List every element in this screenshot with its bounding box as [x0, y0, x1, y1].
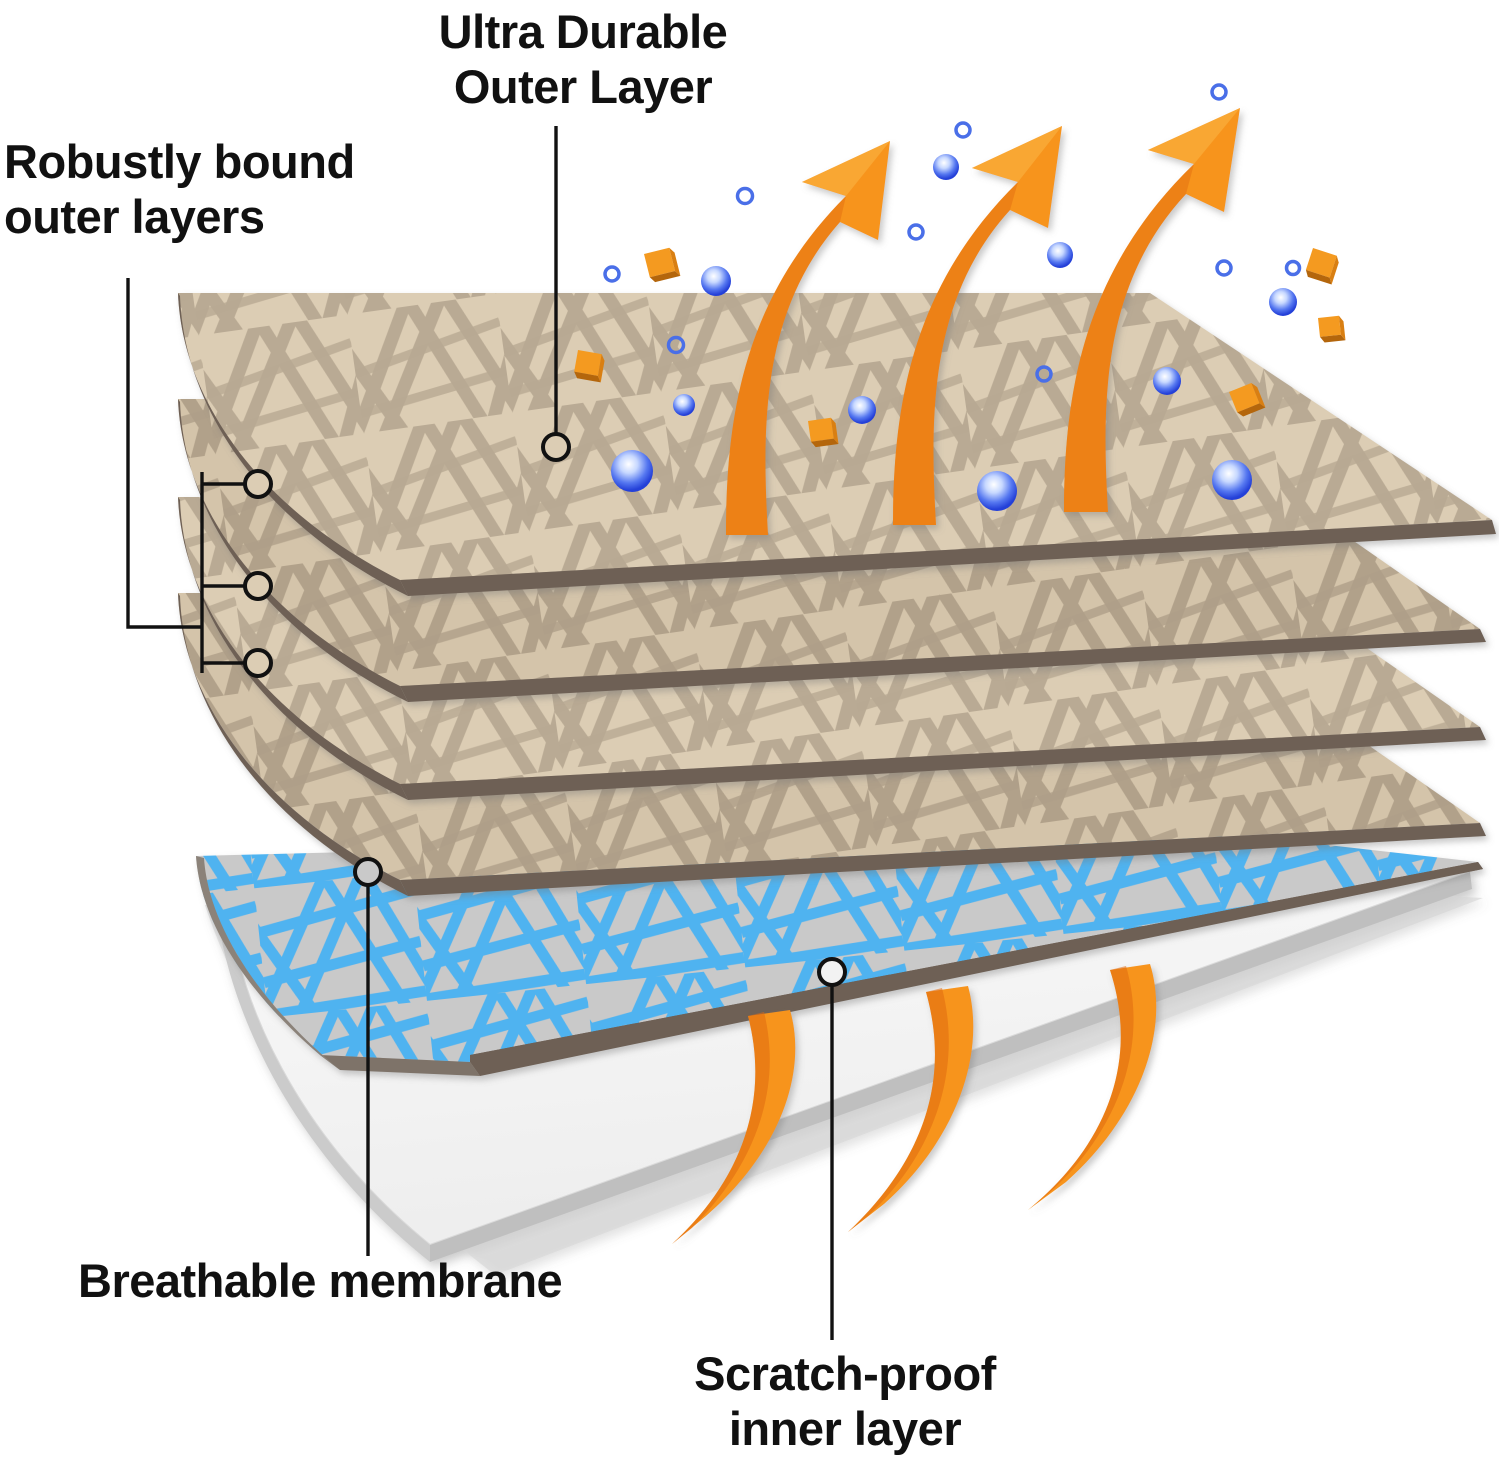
debris-cube	[573, 350, 605, 382]
debris-cube	[808, 417, 838, 447]
marker-bound-layer-2	[245, 471, 271, 497]
marker-membrane	[355, 859, 381, 885]
marker-bound-layer-4	[245, 650, 271, 676]
debris-cube	[1304, 248, 1341, 285]
marker-outer-layer	[543, 434, 569, 460]
marker-bound-layer-3	[245, 573, 271, 599]
label-ultra-durable-outer-layer: Ultra Durable Outer Layer	[383, 4, 783, 115]
marker-scratch-proof	[819, 959, 845, 985]
label-robustly-bound-outer-layers: Robustly bound outer layers	[4, 134, 434, 245]
label-scratch-proof-inner-layer: Scratch-proof inner layer	[620, 1346, 1070, 1457]
debris-cube	[644, 247, 680, 283]
diagram-canvas: Ultra Durable Outer Layer Robustly bound…	[0, 0, 1499, 1463]
debris-cube	[1318, 315, 1345, 342]
label-breathable-membrane: Breathable membrane	[78, 1253, 698, 1308]
